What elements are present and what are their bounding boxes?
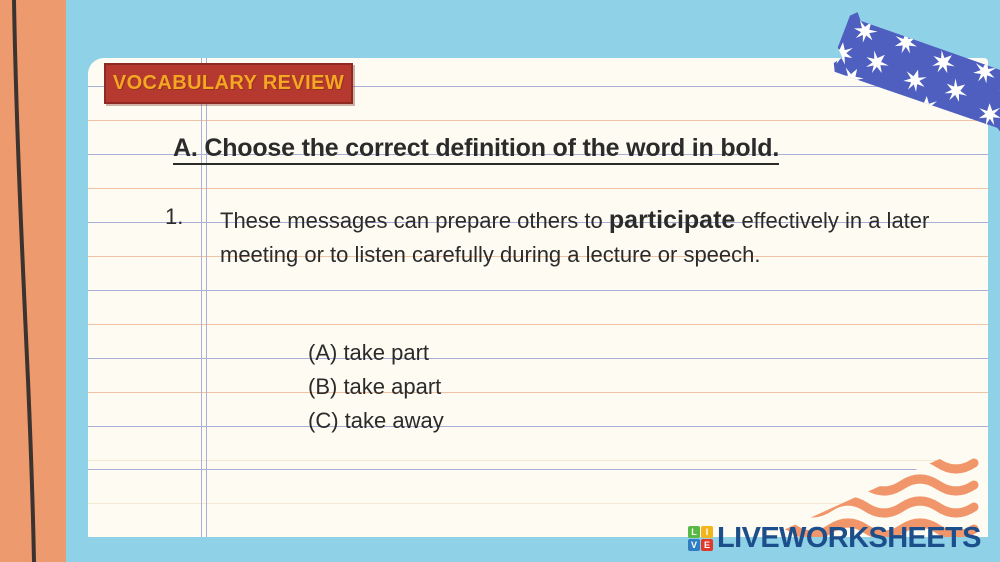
logo-tile-l: L xyxy=(688,526,700,538)
notebook-paper: A. Choose the correct definition of the … xyxy=(88,58,988,537)
question-text-part1: These messages can prepare others to xyxy=(220,208,609,233)
section-banner-label: VOCABULARY REVIEW xyxy=(113,72,344,95)
answer-option-a[interactable]: (A) take part xyxy=(308,336,444,370)
curved-pencil-line xyxy=(0,0,66,562)
logo-tile-i: I xyxy=(701,526,713,538)
liveworksheets-logo[interactable]: L I V E LIVEWORKSHEETS xyxy=(688,522,981,554)
worksheet-page: A. Choose the correct definition of the … xyxy=(0,0,1000,562)
logo-tile-e: E xyxy=(701,539,713,551)
question-text: These messages can prepare others to par… xyxy=(220,203,940,272)
answer-options: (A) take part (B) take apart (C) take aw… xyxy=(308,336,444,438)
answer-option-c[interactable]: (C) take away xyxy=(308,404,444,438)
section-heading-text: A. Choose the correct definition of the … xyxy=(173,134,779,165)
logo-wordmark: LIVEWORKSHEETS xyxy=(717,522,981,555)
logo-tiles: L I V E xyxy=(688,526,713,551)
answer-option-b[interactable]: (B) take apart xyxy=(308,370,444,404)
section-heading: A. Choose the correct definition of the … xyxy=(173,134,779,163)
section-banner: VOCABULARY REVIEW xyxy=(104,63,353,104)
logo-tile-v: V xyxy=(688,539,700,551)
question-number: 1. xyxy=(165,204,183,230)
question-bold-word: participate xyxy=(609,206,735,234)
